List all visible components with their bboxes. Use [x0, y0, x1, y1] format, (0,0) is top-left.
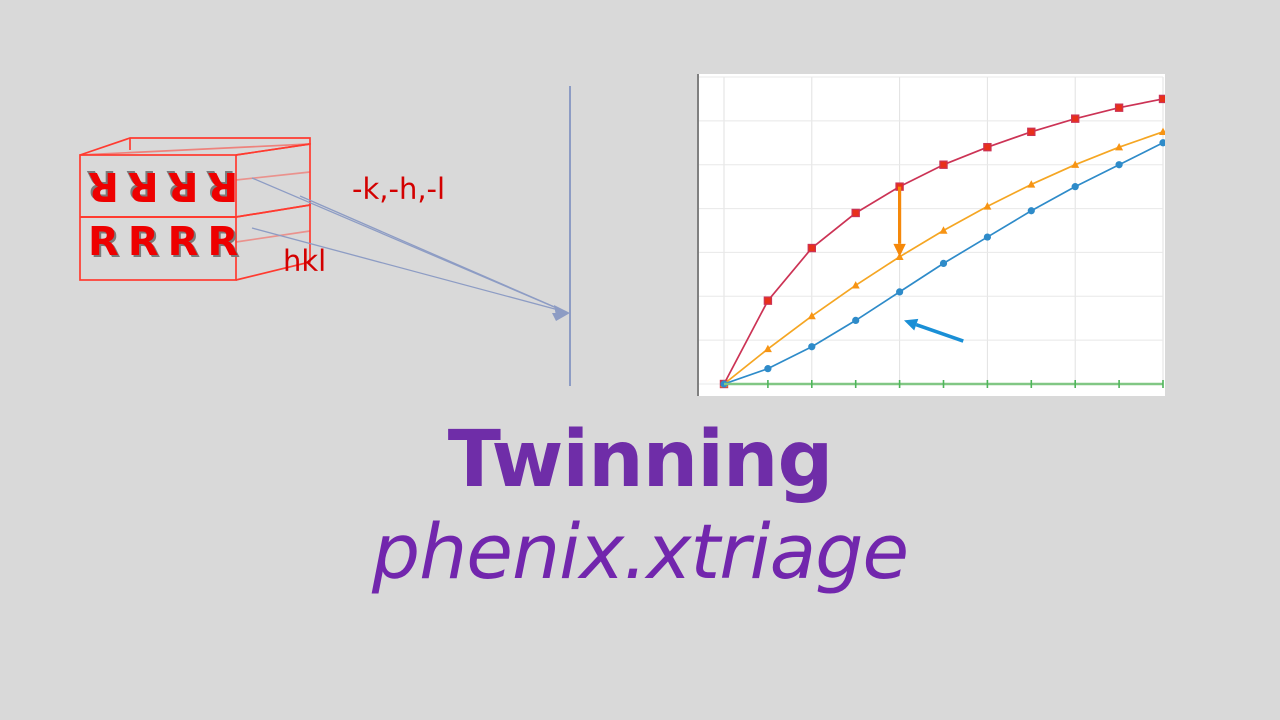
annotation-shaft: [916, 325, 963, 341]
glyph-row-inverted: R R R R: [88, 166, 238, 206]
chart-series-layer: [720, 95, 1165, 388]
page-title: Twinning: [0, 420, 1280, 502]
slide-root: R R R R R R R R -k,-h,-l hkl Twinning ph…: [0, 0, 1280, 720]
glyph-r: R: [128, 222, 159, 262]
label-negative-indices: -k,-h,-l: [352, 175, 445, 204]
glyph-r: R: [168, 222, 199, 262]
data-point: [1159, 139, 1165, 146]
data-point: [1159, 128, 1165, 135]
data-point: [1072, 183, 1079, 190]
chart-annotations-layer: [893, 187, 963, 341]
annotation-arrowhead: [904, 319, 918, 331]
label-hkl: hkl: [283, 247, 326, 276]
vertical-divider: [569, 86, 571, 386]
glyph-r: R: [88, 166, 119, 206]
data-point: [1072, 115, 1079, 122]
data-point: [1159, 95, 1165, 102]
data-point: [940, 161, 947, 168]
twinning-chart-panel: [697, 74, 1165, 396]
glyph-row-upright: R R R R: [88, 222, 238, 262]
diagram-svg: [0, 0, 620, 420]
data-point: [940, 226, 948, 233]
data-point: [808, 343, 815, 350]
chart-gridlines: [699, 77, 1163, 384]
data-point: [1028, 207, 1035, 214]
glyph-r: R: [128, 166, 159, 206]
data-point: [764, 297, 771, 304]
title-block: Twinning phenix.xtriage: [0, 420, 1280, 595]
twin-domain-diagram: R R R R R R R R -k,-h,-l hkl: [0, 0, 620, 420]
data-point: [1028, 128, 1035, 135]
data-point: [1116, 104, 1123, 111]
series-line-untwinned-partial: [724, 132, 1163, 384]
arrowhead-group: [552, 305, 570, 321]
data-point: [1116, 161, 1123, 168]
data-point: [984, 233, 991, 240]
data-point: [984, 144, 991, 151]
orange-down-arrow: [893, 187, 905, 257]
data-point: [896, 288, 903, 295]
data-point: [808, 244, 815, 251]
blue-left-arrow: [904, 319, 963, 341]
data-point: [852, 317, 859, 324]
series-line-perfect-twin: [724, 99, 1163, 384]
glyph-r: R: [207, 222, 238, 262]
glyph-r: R: [207, 166, 238, 206]
data-point: [852, 281, 860, 288]
glyph-r: R: [168, 166, 199, 206]
chart-svg: [699, 74, 1165, 396]
glyph-r: R: [88, 222, 119, 262]
page-subtitle: phenix.xtriage: [0, 508, 1280, 595]
data-point: [764, 365, 771, 372]
data-point: [852, 209, 859, 216]
data-point: [808, 312, 816, 319]
data-point: [940, 260, 947, 267]
